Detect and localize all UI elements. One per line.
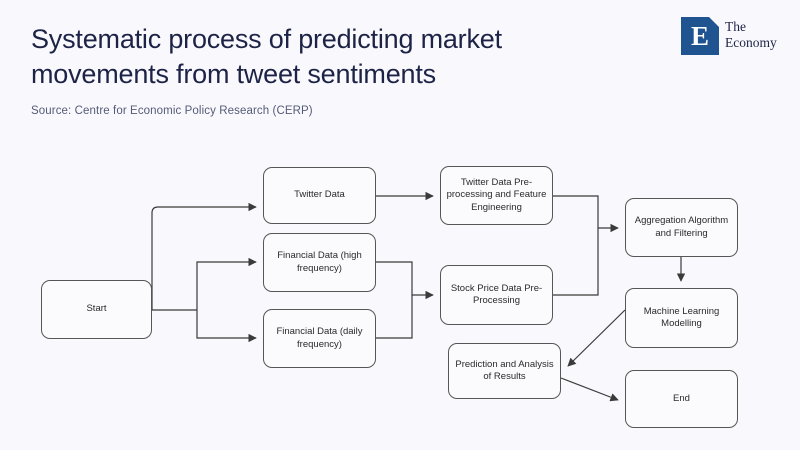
node-financial-data-daily-frequency-label: Financial Data (daily frequency)	[268, 326, 371, 351]
edge-prediction-to-end	[561, 378, 618, 400]
edge-financial-high-to-stock-preprocessing	[376, 262, 433, 295]
edge-machine-learning-to-prediction	[568, 310, 625, 366]
node-prediction-analysis-of-results[interactable]: Prediction and Analysis of Results	[448, 343, 561, 399]
node-prediction-analysis-of-results-label: Prediction and Analysis of Results	[453, 359, 556, 384]
flowchart: Start Twitter Data Financial Data (high …	[0, 0, 800, 450]
node-stock-price-data-preprocessing-label: Stock Price Data Pre-Processing	[445, 283, 548, 308]
edge-start-to-twitter	[152, 207, 256, 310]
edge-start-to-financial-daily	[197, 310, 256, 338]
slide-canvas: Systematic process of predicting market …	[0, 0, 800, 450]
edge-stock-preprocessing-to-aggregation	[553, 228, 598, 295]
node-aggregation-algorithm-filtering-label: Aggregation Algorithm and Filtering	[630, 215, 733, 240]
node-machine-learning-modelling-label: Machine Learning Modelling	[630, 306, 733, 331]
node-stock-price-data-preprocessing[interactable]: Stock Price Data Pre-Processing	[440, 265, 553, 325]
node-twitter-data-label: Twitter Data	[268, 189, 371, 202]
node-end[interactable]: End	[625, 370, 738, 428]
edge-start-to-financial-high	[197, 262, 256, 310]
edge-twitter-preprocessing-to-aggregation	[553, 196, 618, 228]
node-start[interactable]: Start	[41, 280, 152, 339]
node-financial-data-daily-frequency[interactable]: Financial Data (daily frequency)	[263, 309, 376, 368]
node-start-label: Start	[46, 303, 147, 316]
node-machine-learning-modelling[interactable]: Machine Learning Modelling	[625, 288, 738, 348]
node-financial-data-high-frequency-label: Financial Data (high frequency)	[268, 250, 371, 275]
edge-financial-daily-to-stock-preprocessing	[376, 295, 412, 338]
node-twitter-data-preprocessing[interactable]: Twitter Data Pre-processing and Feature …	[440, 166, 553, 225]
node-twitter-data[interactable]: Twitter Data	[263, 167, 376, 224]
node-end-label: End	[630, 393, 733, 406]
node-aggregation-algorithm-filtering[interactable]: Aggregation Algorithm and Filtering	[625, 198, 738, 257]
node-financial-data-high-frequency[interactable]: Financial Data (high frequency)	[263, 233, 376, 292]
node-twitter-data-preprocessing-label: Twitter Data Pre-processing and Feature …	[445, 177, 548, 215]
